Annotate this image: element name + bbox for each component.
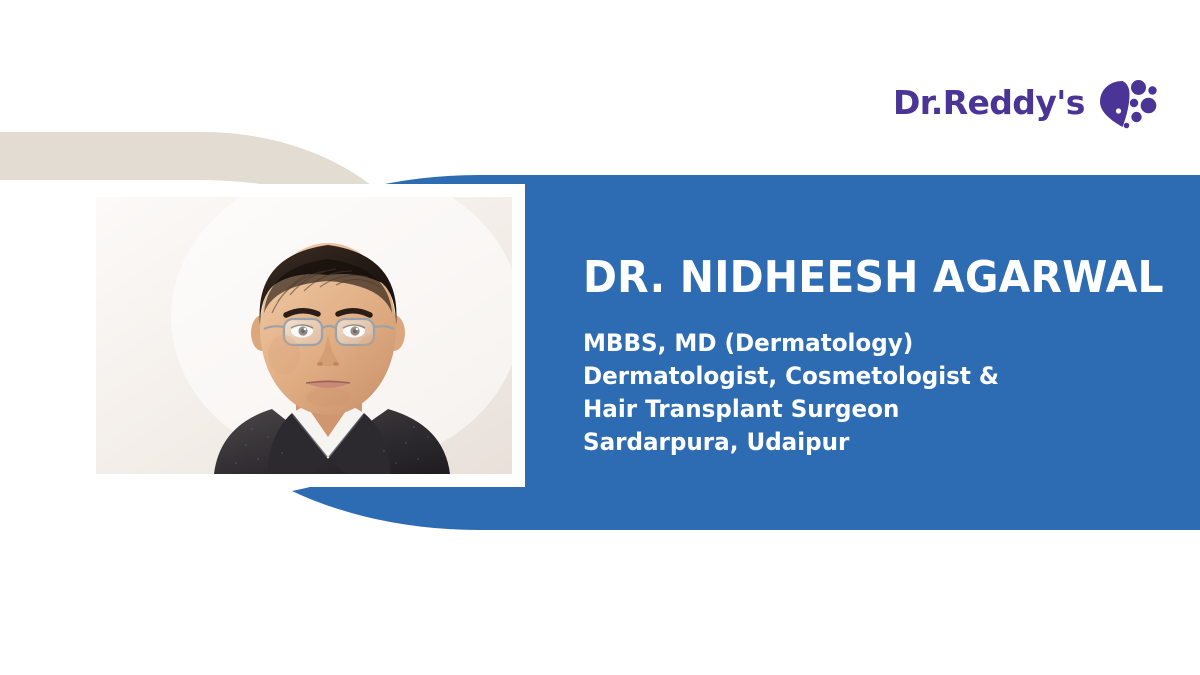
doctor-photo <box>96 197 512 474</box>
credential-line-1: MBBS, MD (Dermatology) <box>583 327 1159 360</box>
doctor-portrait-illustration <box>96 197 512 474</box>
doctor-photo-frame <box>83 184 525 487</box>
credential-line-2: Dermatologist, Cosmetologist & <box>583 360 1159 393</box>
brand-wordmark: Dr.Reddy's <box>893 86 1085 119</box>
doctor-credentials: MBBS, MD (Dermatology) Dermatologist, Co… <box>583 327 1183 459</box>
credential-line-4: Sardarpura, Udaipur <box>583 426 1159 459</box>
doctor-info-block: DR. NIDHEESH AGARWAL MBBS, MD (Dermatolo… <box>583 255 1183 459</box>
credential-line-3: Hair Transplant Surgeon <box>583 393 1159 426</box>
dr-reddys-heart-bubbles-icon <box>1097 73 1159 131</box>
doctor-profile-card: Dr.Reddy's DR. NIDHEESH AGARWAL MBBS, MD… <box>0 0 1200 675</box>
brand-logo: Dr.Reddy's <box>893 66 1133 138</box>
doctor-name: DR. NIDHEESH AGARWAL <box>583 255 1141 301</box>
